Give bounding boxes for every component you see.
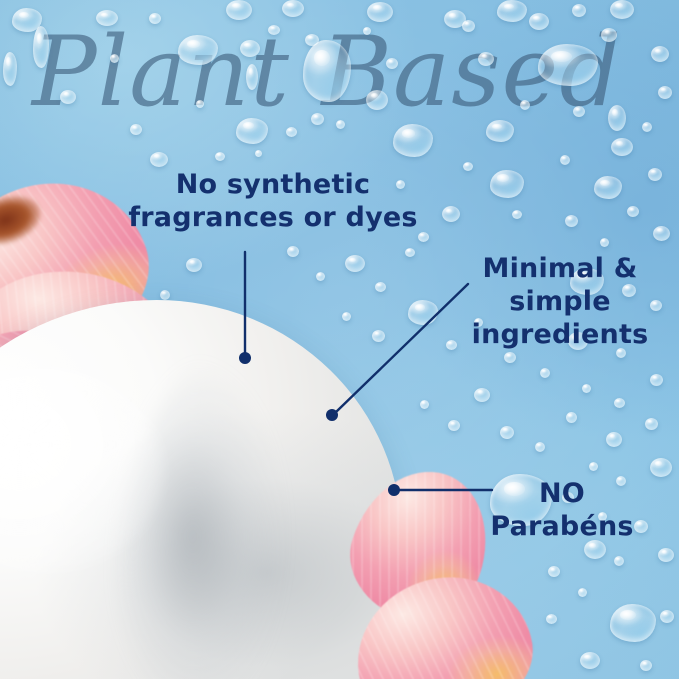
water-droplet [186,258,202,272]
water-droplet [611,138,633,156]
water-droplet [336,120,345,129]
water-droplet [463,162,473,171]
water-droplet [601,28,617,42]
water-droplet [268,25,280,35]
water-droplet [150,152,168,167]
water-droplet [589,462,598,471]
water-droplet [287,246,299,257]
water-droplet [386,58,398,69]
water-droplet [236,118,268,144]
water-droplet [578,588,587,597]
water-droplet [660,610,674,623]
water-droplet [540,368,550,378]
water-droplet [572,4,586,17]
water-droplet [650,374,663,386]
water-droplet [650,458,672,477]
water-droplet [255,150,262,157]
water-droplet [282,0,304,17]
water-droplet [653,226,670,241]
water-droplet [393,124,433,157]
water-droplet [651,46,669,62]
water-droplet [3,52,17,86]
water-droplet [363,27,371,35]
water-droplet [645,418,658,430]
callout-no-parabens: NO Parabéns [470,477,654,543]
water-droplet [565,215,578,227]
water-droplet [226,0,252,20]
water-droplet [60,90,76,104]
water-droplet [648,168,662,181]
water-droplet [448,420,460,431]
water-droplet [642,122,652,132]
water-droplet [600,238,609,247]
water-droplet [610,604,656,642]
water-droplet [311,113,324,125]
water-droplet [504,352,516,363]
callout-no-synthetic-fragrances: No synthetic fragrances or dyes [123,168,423,234]
water-droplet [149,13,161,24]
water-droplet [658,86,672,99]
water-droplet [240,40,260,57]
water-droplet [640,660,652,671]
water-droplet [627,206,639,217]
water-droplet [110,54,119,63]
water-droplet [372,330,385,342]
water-droplet [582,384,591,393]
callout-line: NO [470,477,654,510]
water-droplet [560,155,570,165]
water-droplet [478,52,494,66]
water-droplet [538,44,598,86]
callout-line: fragrances or dyes [123,201,423,234]
water-droplet [303,40,351,102]
water-droplet [130,124,142,135]
water-droplet [474,388,490,402]
water-droplet [408,300,438,325]
water-droplet [529,13,549,30]
water-droplet [548,566,560,577]
water-droplet [610,0,634,19]
water-droplet [96,10,118,26]
water-droplet [196,100,204,108]
water-droplet [594,176,622,199]
water-droplet [375,282,386,292]
water-droplet [316,272,325,281]
callout-minimal-simple-ingredients: Minimal & simple ingredients [460,252,660,351]
product-shadow-crease [121,347,360,679]
water-droplet [420,400,429,409]
water-droplet [500,426,514,439]
callout-line: Minimal & [460,252,660,285]
callout-line: simple [460,285,660,318]
water-droplet [606,432,622,447]
water-droplet [286,127,297,137]
water-droplet [33,26,49,68]
water-droplet [462,20,475,32]
water-droplet [535,442,545,452]
water-droplet [446,340,457,350]
water-droplet [486,120,514,142]
water-droplet [520,100,530,110]
water-droplet [566,412,577,423]
water-droplet [366,90,388,110]
water-droplet [490,170,524,198]
product-infographic-image: Plant Based No synthetic fragrances or d… [0,0,679,679]
water-droplet [580,652,600,669]
water-droplet [345,255,365,272]
water-droplet [546,614,557,624]
water-droplet [178,35,218,65]
water-droplet [367,2,393,22]
callout-line: No synthetic [123,168,423,201]
callout-line: ingredients [460,318,660,351]
water-droplet [405,248,415,257]
callout-line: Parabéns [470,510,654,543]
water-droplet [608,105,626,131]
water-droplet [658,548,674,562]
water-droplet [497,0,527,22]
water-droplet [573,106,585,117]
water-droplet [160,290,170,300]
water-droplet [614,556,624,566]
water-droplet [215,152,225,161]
water-droplet [512,210,522,219]
water-droplet [246,64,258,90]
water-droplet [442,206,460,222]
water-droplet [342,312,351,321]
water-droplet [614,398,625,408]
